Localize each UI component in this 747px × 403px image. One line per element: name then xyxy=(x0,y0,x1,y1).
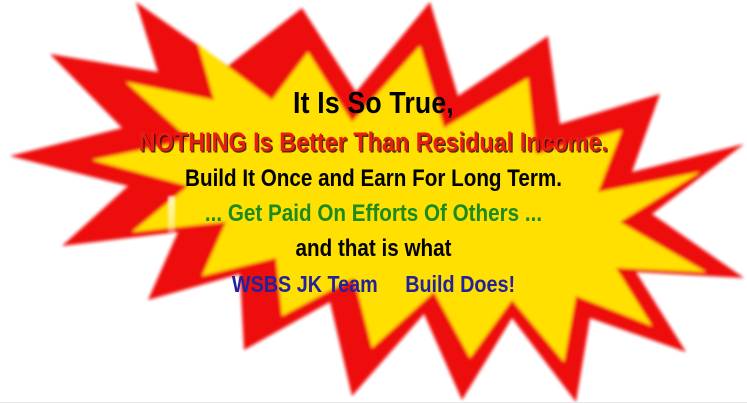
starburst-graphic xyxy=(0,0,747,403)
starburst-banner: It Is So True, NOTHING Is Better Than Re… xyxy=(0,0,747,403)
